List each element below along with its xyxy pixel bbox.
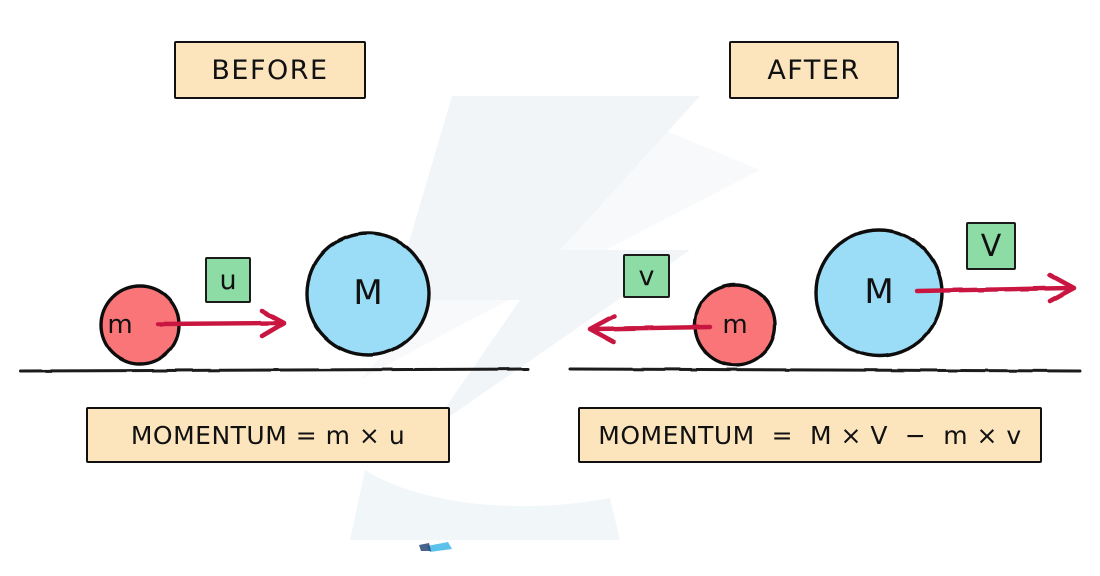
velocity-box-u: u bbox=[205, 257, 251, 303]
velocity-arrow-v bbox=[590, 316, 710, 342]
ball-large-before bbox=[307, 233, 429, 355]
diagram-canvas: BEFORE m M u MOMENTUM = m × u AFTER m M … bbox=[0, 0, 1100, 576]
ground-line-after bbox=[570, 369, 1080, 371]
panel-title-after: AFTER bbox=[729, 41, 899, 99]
ground-line-before bbox=[20, 369, 528, 371]
panel-title-before: BEFORE bbox=[174, 41, 366, 99]
momentum-equation-after: MOMENTUM = M × V − m × v bbox=[578, 407, 1042, 463]
physics-scene bbox=[0, 0, 1100, 576]
velocity-box-big-V: V bbox=[966, 222, 1016, 270]
momentum-equation-before: MOMENTUM = m × u bbox=[86, 407, 450, 463]
velocity-box-v: v bbox=[623, 254, 670, 298]
